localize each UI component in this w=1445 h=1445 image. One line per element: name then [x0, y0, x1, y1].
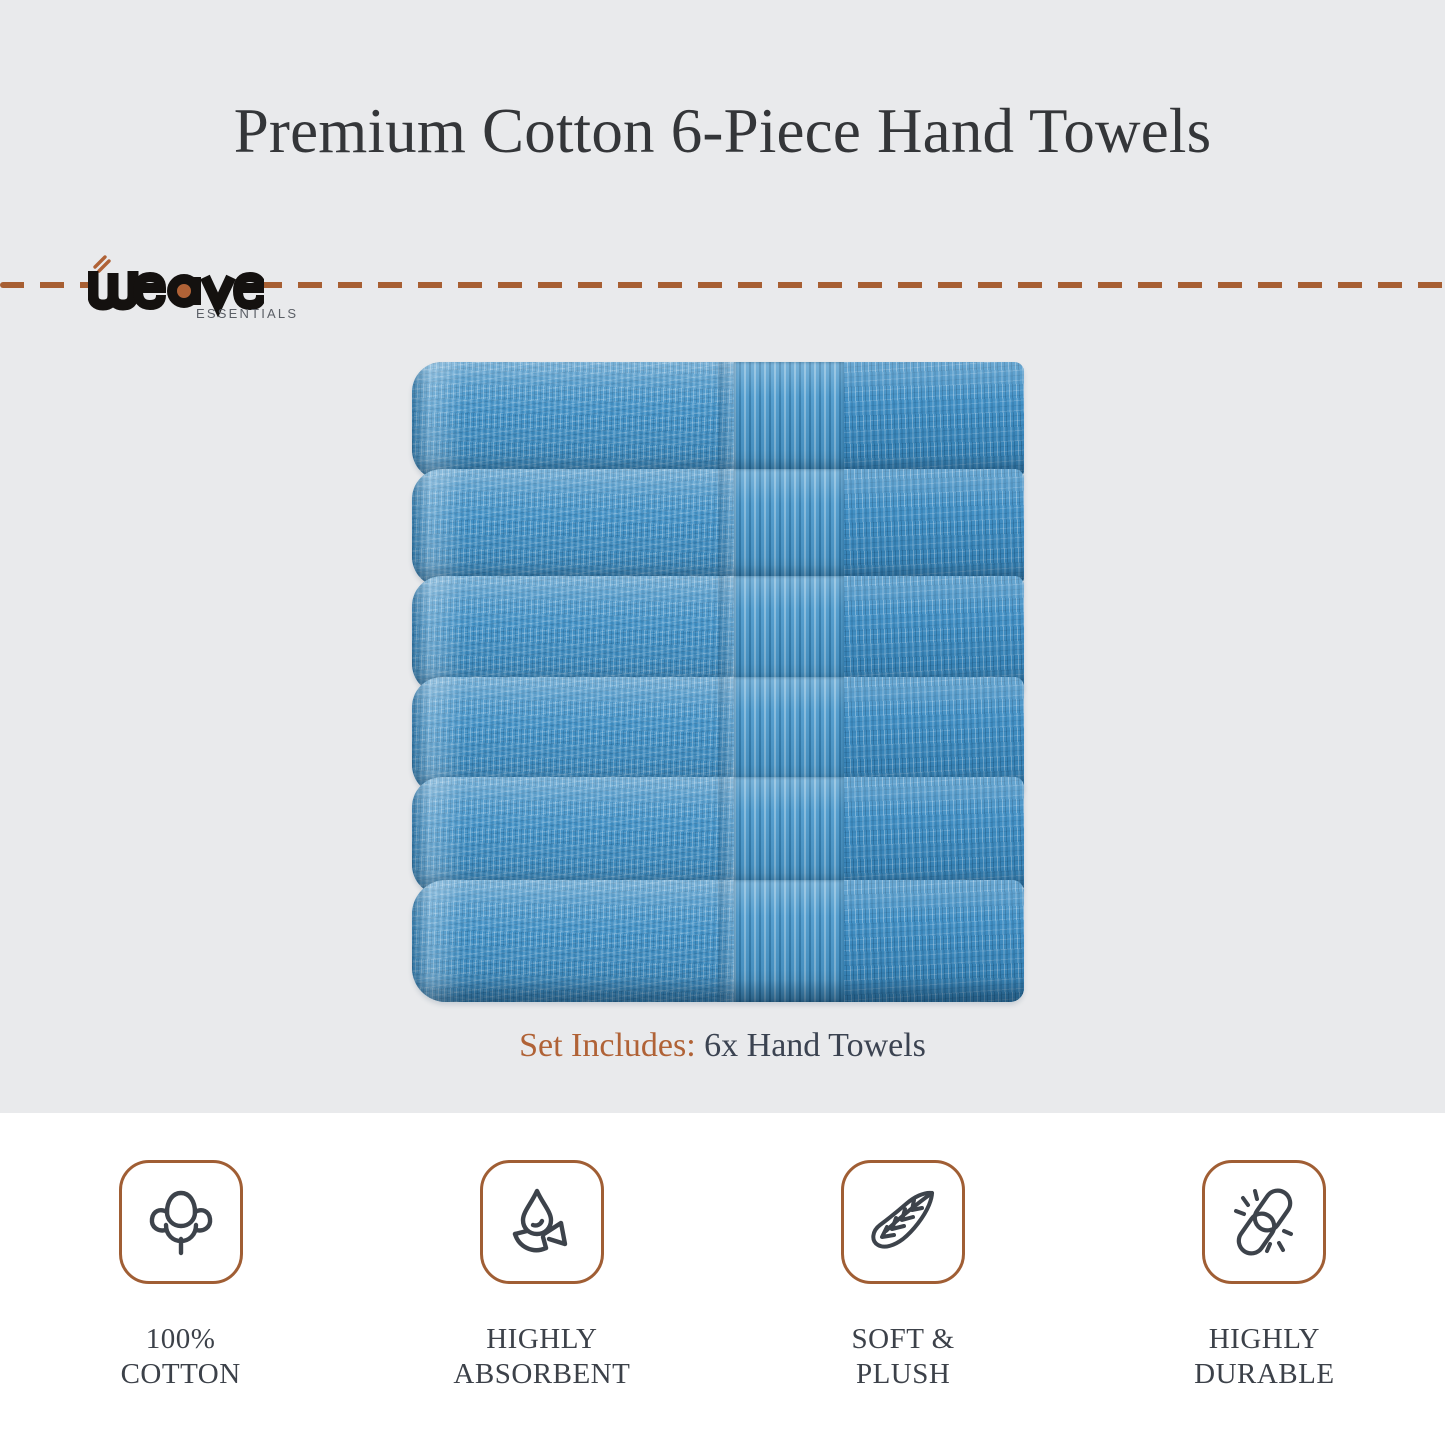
- dashed-rule-left: [0, 282, 92, 288]
- feature-label: SOFT & PLUSH: [852, 1322, 955, 1392]
- towel-shadow: [412, 980, 1024, 1002]
- feature-label-line1: SOFT &: [852, 1323, 955, 1355]
- cotton-boll-icon: [140, 1181, 222, 1263]
- page-title: Premium Cotton 6-Piece Hand Towels: [0, 95, 1445, 168]
- brand-logo: ESSENTIALS: [88, 243, 264, 329]
- feather-icon: [862, 1181, 944, 1263]
- feature-label-line2: DURABLE: [1194, 1357, 1334, 1392]
- towel-item: [412, 777, 1024, 895]
- feature-icon-frame: [1202, 1160, 1326, 1284]
- feature-label: 100% COTTON: [121, 1322, 241, 1392]
- feature-row: 100% COTTON HIGHLY ABSORBENT: [0, 1160, 1445, 1392]
- dashed-rule-right: [258, 282, 1445, 288]
- towel-item: [412, 880, 1024, 1002]
- feature-label: HIGHLY ABSORBENT: [453, 1322, 630, 1392]
- feature-absorbent: HIGHLY ABSORBENT: [361, 1160, 722, 1392]
- brand-divider-bar: ESSENTIALS: [0, 243, 1445, 329]
- set-includes-value: 6x Hand Towels: [704, 1027, 926, 1064]
- set-includes-label: Set Includes:: [519, 1027, 704, 1064]
- feature-label-line1: HIGHLY: [1209, 1323, 1320, 1355]
- feature-label-line2: PLUSH: [852, 1357, 955, 1392]
- brand-tagline: ESSENTIALS: [196, 306, 298, 321]
- towel-item: [412, 469, 1024, 587]
- feature-icon-frame: [119, 1160, 243, 1284]
- feature-cotton: 100% COTTON: [0, 1160, 361, 1392]
- feature-label-line1: HIGHLY: [486, 1323, 597, 1355]
- water-drop-absorb-icon: [501, 1181, 583, 1263]
- feature-label-line1: 100%: [146, 1323, 216, 1355]
- feature-label: HIGHLY DURABLE: [1194, 1322, 1334, 1392]
- logo-accent-tick: [95, 257, 109, 271]
- set-includes-caption: Set Includes: 6x Hand Towels: [0, 1027, 1445, 1065]
- feature-icon-frame: [841, 1160, 965, 1284]
- feature-durable: HIGHLY DURABLE: [1084, 1160, 1445, 1392]
- product-infographic: Premium Cotton 6-Piece Hand Towels: [0, 0, 1445, 1445]
- feature-icon-frame: [480, 1160, 604, 1284]
- product-image-towel-stack: [412, 362, 1024, 1000]
- feature-label-line2: COTTON: [121, 1357, 241, 1392]
- feature-soft: SOFT & PLUSH: [723, 1160, 1084, 1392]
- feature-label-line2: ABSORBENT: [453, 1357, 630, 1392]
- chain-link-icon: [1223, 1181, 1305, 1263]
- towel-item: [412, 362, 1024, 480]
